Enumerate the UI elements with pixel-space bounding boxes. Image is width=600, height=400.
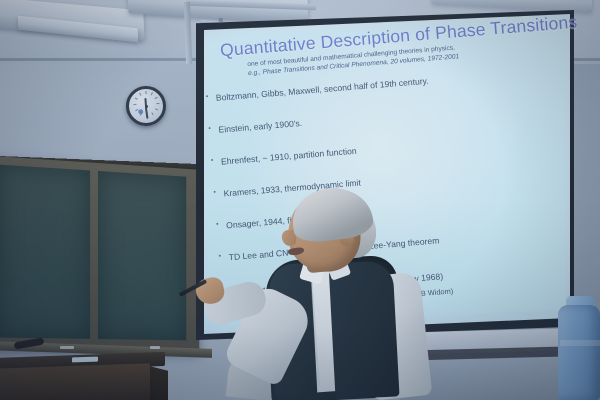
lectern-papers — [72, 357, 98, 363]
clock-minute-hand — [145, 107, 148, 119]
chalkboard-panel-left — [0, 164, 90, 338]
chalk-piece — [60, 346, 74, 349]
chalkboard-panel-right — [98, 171, 186, 340]
chalkboard — [0, 156, 199, 352]
clock-center-pin — [144, 104, 147, 107]
water-bottle — [558, 305, 600, 400]
water-bottle-ring — [560, 340, 600, 346]
speaker-vest-right — [328, 260, 399, 399]
chalk-piece — [150, 346, 160, 349]
wall-clock — [125, 85, 166, 126]
speaker — [240, 190, 450, 400]
lecture-photo-scene: Quantitative Description of Phase Transi… — [0, 0, 600, 400]
clock-face — [128, 88, 163, 123]
lectern — [0, 363, 150, 400]
clock-accent-dot — [138, 109, 143, 114]
